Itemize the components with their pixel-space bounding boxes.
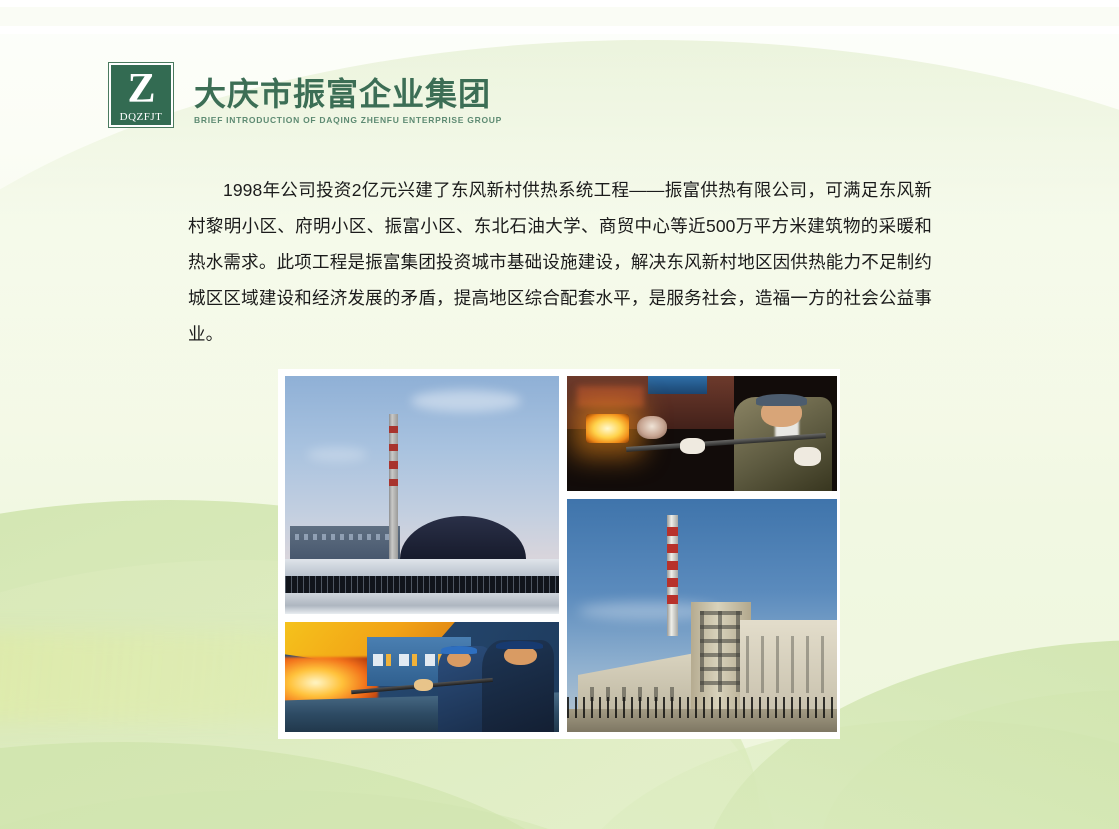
logo-abbreviation: DQZFJT [120,111,163,123]
background-soft-band-low [0,790,660,829]
photo-heating-plant [284,375,560,615]
photo-collage [278,369,840,739]
company-name-en: BRIEF INTRODUCTION OF DAQING ZHENFU ENTE… [194,114,502,126]
photo-control-panel [284,621,560,733]
background-top-white-strip [0,0,1119,7]
introduction-paragraph: 1998年公司投资2亿元兴建了东风新村供热系统工程——振富供热有限公司，可满足东… [188,172,932,352]
background-hill-bottom-left [0,742,620,829]
company-logo-icon: Z DQZFJT [108,62,174,128]
brand-text-block: 大庆市振富企业集团 BRIEF INTRODUCTION OF DAQING Z… [194,62,502,126]
photo-furnace-worker [566,375,838,492]
company-name-cn: 大庆市振富企业集团 [194,77,502,111]
slide-page: Z DQZFJT 大庆市振富企业集团 BRIEF INTRODUCTION OF… [0,0,1119,829]
collage-right-column [566,375,838,733]
background-top-band [0,7,1119,26]
background-top-white-strip-secondary [0,26,1119,34]
brand-header: Z DQZFJT 大庆市振富企业集团 BRIEF INTRODUCTION OF… [108,62,502,128]
photo-boiler-house [566,498,838,733]
logo-letter: Z [127,68,154,110]
background-wave-middle [820,690,1119,829]
